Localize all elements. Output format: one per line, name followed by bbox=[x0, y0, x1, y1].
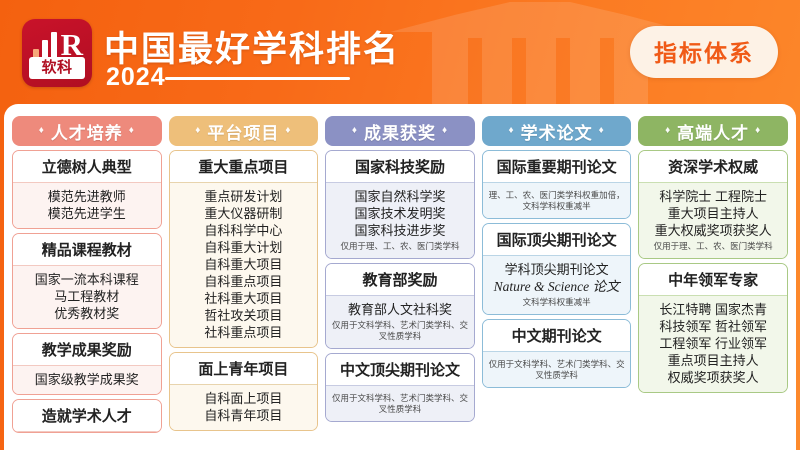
indicator-item: 自科重大项目 bbox=[173, 256, 315, 273]
indicator-group[interactable]: 重大重点项目重点研发计划重大仪器研制自科科学中心自科重大计划自科重大项目自科重点… bbox=[169, 150, 319, 348]
indicator-group-note: 仅用于文科学科、艺术门类学科、交叉性质学科 bbox=[329, 393, 471, 415]
indicator-group-body: 学科顶尖期刊论文Nature & Science 论文文科学科权重减半 bbox=[483, 256, 631, 314]
indicator-item: 自科面上项目 bbox=[173, 390, 315, 407]
indicator-item: 社科重点项目 bbox=[173, 324, 315, 341]
diamond-icon: ♦ bbox=[508, 126, 514, 136]
indicator-group-title: 中文顶尖期刊论文 bbox=[326, 354, 474, 386]
column-header-label: 高端人才 bbox=[677, 119, 749, 144]
indicator-item: 国家级教学成果奖 bbox=[16, 371, 158, 388]
indicator-item: 优秀教材奖 bbox=[16, 305, 158, 322]
indicator-group-note: 仅用于理、工、农、医门类学科 bbox=[329, 241, 471, 252]
title-divider bbox=[165, 77, 350, 80]
indicator-item: 自科重大计划 bbox=[173, 239, 315, 256]
indicator-item: 哲社攻关项目 bbox=[173, 307, 315, 324]
indicator-item: 国家自然科学奖 bbox=[329, 188, 471, 205]
diamond-icon: ♦ bbox=[599, 126, 605, 136]
diamond-icon: ♦ bbox=[755, 126, 761, 136]
indicator-item: 社科重大项目 bbox=[173, 290, 315, 307]
indicator-column-top-talent: ♦高端人才♦资深学术权威科学院士 工程院士重大项目主持人重大权威奖项获奖人仅用于… bbox=[638, 116, 788, 450]
indicator-item: 教育部人文社科奖 bbox=[329, 301, 471, 318]
indicator-item: 自科科学中心 bbox=[173, 222, 315, 239]
indicator-columns-panel: ♦人才培养♦立德树人典型模范先进教师模范先进学生精品课程教材国家一流本科课程马工… bbox=[4, 104, 796, 450]
indicator-group-body: 科学院士 工程院士重大项目主持人重大权威奖项获奖人仅用于理、工、农、医门类学科 bbox=[639, 183, 787, 258]
diamond-icon: ♦ bbox=[352, 126, 358, 136]
column-header-label: 成果获奖 bbox=[364, 119, 436, 144]
indicator-group[interactable]: 面上青年项目自科面上项目自科青年项目 bbox=[169, 352, 319, 431]
logo-brand-label: 软科 bbox=[29, 57, 85, 79]
indicator-group[interactable]: 中文顶尖期刊论文仅用于文科学科、艺术门类学科、交叉性质学科 bbox=[325, 353, 475, 422]
diamond-icon: ♦ bbox=[195, 126, 201, 136]
column-header-achievement-awards[interactable]: ♦成果获奖♦ bbox=[325, 116, 475, 146]
column-header-top-talent[interactable]: ♦高端人才♦ bbox=[638, 116, 788, 146]
indicator-group[interactable]: 中年领军专家长江特聘 国家杰青科技领军 哲社领军工程领军 行业领军重点项目主持人… bbox=[638, 263, 788, 393]
indicator-group[interactable]: 精品课程教材国家一流本科课程马工程教材优秀教材奖 bbox=[12, 233, 162, 329]
indicator-group-body: 仅用于文科学科、艺术门类学科、交叉性质学科 bbox=[483, 352, 631, 387]
page-header: R 软科 中国最好学科排名 2024 指标体系 bbox=[0, 0, 800, 108]
indicator-group[interactable]: 国际顶尖期刊论文学科顶尖期刊论文Nature & Science 论文文科学科权… bbox=[482, 223, 632, 315]
indicator-group[interactable]: 教育部奖励教育部人文社科奖仅用于文科学科、艺术门类学科、交叉性质学科 bbox=[325, 263, 475, 349]
indicator-item: 科技领军 哲社领军 bbox=[642, 318, 784, 335]
indicator-group-body: 国家一流本科课程马工程教材优秀教材奖 bbox=[13, 266, 161, 328]
indicator-item: 重点项目主持人 bbox=[642, 352, 784, 369]
logo-letter: R bbox=[61, 29, 83, 60]
indicator-group-body: 仅用于文科学科、艺术门类学科、交叉性质学科 bbox=[326, 386, 474, 421]
indicator-group-title: 中文期刊论文 bbox=[483, 320, 631, 352]
indicator-group-title: 中年领军专家 bbox=[639, 264, 787, 296]
diamond-icon: ♦ bbox=[285, 126, 291, 136]
column-header-label: 人才培养 bbox=[51, 119, 123, 144]
indicator-group-body: 国家自然科学奖国家技术发明奖国家科技进步奖仅用于理、工、农、医门类学科 bbox=[326, 183, 474, 258]
diamond-icon: ♦ bbox=[129, 126, 135, 136]
indicator-group-title: 国际顶尖期刊论文 bbox=[483, 224, 631, 256]
indicator-item: 工程领军 行业领军 bbox=[642, 335, 784, 352]
column-header-label: 平台项目 bbox=[207, 119, 279, 144]
indicator-item: 长江特聘 国家杰青 bbox=[642, 301, 784, 318]
column-header-platform-projects[interactable]: ♦平台项目♦ bbox=[169, 116, 319, 146]
indicator-group[interactable]: 国家科技奖励国家自然科学奖国家技术发明奖国家科技进步奖仅用于理、工、农、医门类学… bbox=[325, 150, 475, 259]
indicator-item: 重大权威奖项获奖人 bbox=[642, 222, 784, 239]
indicator-group[interactable]: 资深学术权威科学院士 工程院士重大项目主持人重大权威奖项获奖人仅用于理、工、农、… bbox=[638, 150, 788, 259]
indicator-group-body: 长江特聘 国家杰青科技领军 哲社领军工程领军 行业领军重点项目主持人权威奖项获奖… bbox=[639, 296, 787, 392]
diamond-icon: ♦ bbox=[442, 126, 448, 136]
indicator-item: 马工程教材 bbox=[16, 288, 158, 305]
indicator-group-title: 面上青年项目 bbox=[170, 353, 318, 385]
indicator-group-body: 自科面上项目自科青年项目 bbox=[170, 385, 318, 430]
indicator-group[interactable]: 国际重要期刊论文理、工、农、医门类学科权重加倍，文科学科权重减半 bbox=[482, 150, 632, 219]
indicator-group-title: 国家科技奖励 bbox=[326, 151, 474, 183]
indicator-group[interactable]: 教学成果奖励国家级教学成果奖 bbox=[12, 333, 162, 395]
indicator-group-title: 国际重要期刊论文 bbox=[483, 151, 631, 183]
indicator-column-academic-papers: ♦学术论文♦国际重要期刊论文理、工、农、医门类学科权重加倍，文科学科权重减半国际… bbox=[482, 116, 632, 450]
indicator-item: Nature & Science 论文 bbox=[486, 278, 628, 295]
indicator-item: 国家科技进步奖 bbox=[329, 222, 471, 239]
indicator-column-talent-cultivation: ♦人才培养♦立德树人典型模范先进教师模范先进学生精品课程教材国家一流本科课程马工… bbox=[12, 116, 162, 450]
indicator-group-title: 教学成果奖励 bbox=[13, 334, 161, 366]
indicator-group-title: 精品课程教材 bbox=[13, 234, 161, 266]
indicator-item: 国家一流本科课程 bbox=[16, 271, 158, 288]
indicator-group-title: 重大重点项目 bbox=[170, 151, 318, 183]
column-header-label: 学术论文 bbox=[521, 119, 593, 144]
indicator-group-body: 模范先进教师模范先进学生 bbox=[13, 183, 161, 228]
indicator-group-body: 理、工、农、医门类学科权重加倍，文科学科权重减半 bbox=[483, 183, 631, 218]
indicator-column-platform-projects: ♦平台项目♦重大重点项目重点研发计划重大仪器研制自科科学中心自科重大计划自科重大… bbox=[169, 116, 319, 450]
indicator-item: 重大仪器研制 bbox=[173, 205, 315, 222]
indicator-item: 重点研发计划 bbox=[173, 188, 315, 205]
indicator-group[interactable]: 造就学术人才 bbox=[12, 399, 162, 433]
indicator-group-title: 造就学术人才 bbox=[13, 400, 161, 432]
diamond-icon: ♦ bbox=[39, 126, 45, 136]
indicator-item: 权威奖项获奖人 bbox=[642, 369, 784, 386]
indicator-item: 模范先进学生 bbox=[16, 205, 158, 222]
indicator-item: 自科青年项目 bbox=[173, 407, 315, 424]
indicator-group-body: 教育部人文社科奖仅用于文科学科、艺术门类学科、交叉性质学科 bbox=[326, 296, 474, 348]
indicator-column-achievement-awards: ♦成果获奖♦国家科技奖励国家自然科学奖国家技术发明奖国家科技进步奖仅用于理、工、… bbox=[325, 116, 475, 450]
indicator-group-note: 理、工、农、医门类学科权重加倍，文科学科权重减半 bbox=[486, 190, 628, 212]
indicator-item: 自科重点项目 bbox=[173, 273, 315, 290]
shanghairanking-logo[interactable]: R 软科 bbox=[22, 19, 92, 87]
indicator-group[interactable]: 中文期刊论文仅用于文科学科、艺术门类学科、交叉性质学科 bbox=[482, 319, 632, 388]
indicator-group[interactable]: 立德树人典型模范先进教师模范先进学生 bbox=[12, 150, 162, 229]
indicator-group-body: 国家级教学成果奖 bbox=[13, 366, 161, 394]
column-header-academic-papers[interactable]: ♦学术论文♦ bbox=[482, 116, 632, 146]
indicator-item: 模范先进教师 bbox=[16, 188, 158, 205]
indicator-group-note: 仅用于文科学科、艺术门类学科、交叉性质学科 bbox=[329, 320, 471, 342]
indicator-group-body: 重点研发计划重大仪器研制自科科学中心自科重大计划自科重大项目自科重点项目社科重大… bbox=[170, 183, 318, 347]
indicator-item: 重大项目主持人 bbox=[642, 205, 784, 222]
page-year: 2024 bbox=[106, 63, 166, 92]
indicator-group-note: 文科学科权重减半 bbox=[486, 297, 628, 308]
indicator-item: 科学院士 工程院士 bbox=[642, 188, 784, 205]
indicator-item: 学科顶尖期刊论文 bbox=[486, 261, 628, 278]
indicator-group-title: 立德树人典型 bbox=[13, 151, 161, 183]
indicator-group-note: 仅用于文科学科、艺术门类学科、交叉性质学科 bbox=[486, 359, 628, 381]
diamond-icon: ♦ bbox=[665, 126, 671, 136]
indicator-item: 国家技术发明奖 bbox=[329, 205, 471, 222]
column-header-talent-cultivation[interactable]: ♦人才培养♦ bbox=[12, 116, 162, 146]
indicator-system-badge: 指标体系 bbox=[630, 26, 778, 78]
indicator-group-title: 资深学术权威 bbox=[639, 151, 787, 183]
indicator-group-note: 仅用于理、工、农、医门类学科 bbox=[642, 241, 784, 252]
indicator-group-title: 教育部奖励 bbox=[326, 264, 474, 296]
